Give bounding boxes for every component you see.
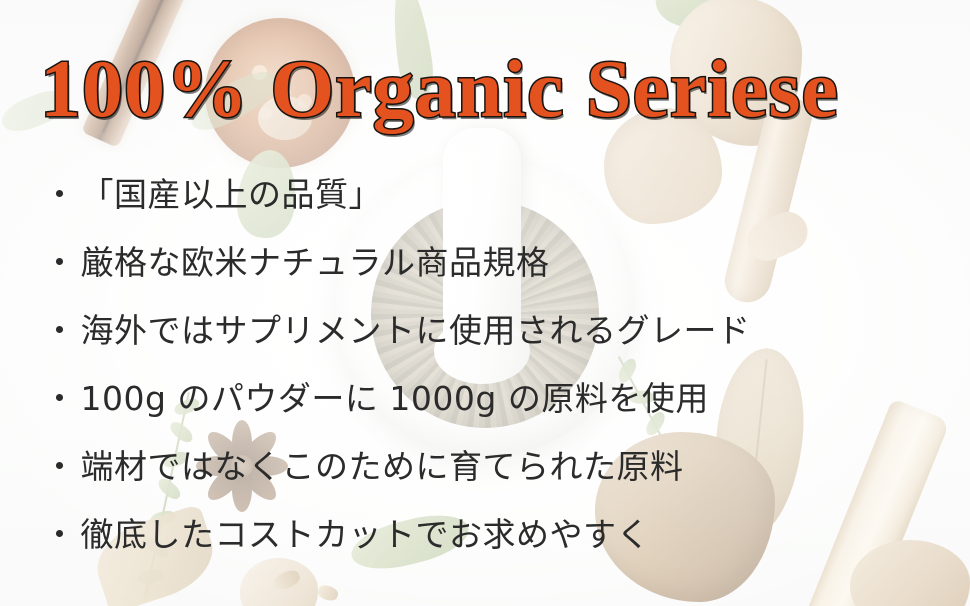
bullet-item-6: ・ 徹底したコストカットでお求めやすく xyxy=(43,508,943,576)
bullet-marker-icon: ・ xyxy=(43,382,77,415)
banner-headline: 100% Organic Seriese xyxy=(40,48,950,130)
bullet-marker-icon: ・ xyxy=(43,314,77,347)
bullet-marker-icon: ・ xyxy=(43,246,77,279)
bullet-text: 徹底したコストカットでお求めやすく xyxy=(81,508,651,556)
bullet-item-3: ・ 海外ではサプリメントに使用されるグレード xyxy=(43,304,943,372)
bullet-marker-icon: ・ xyxy=(43,518,77,551)
bullet-text: 「国産以上の品質」 xyxy=(81,168,383,216)
bullet-text: 100g のパウダーに 1000g の原料を使用 xyxy=(81,372,709,420)
bullet-item-5: ・ 端材ではなくこのために育てられた原料 xyxy=(43,440,943,508)
bullet-marker-icon: ・ xyxy=(43,178,77,211)
bullet-item-4: ・ 100g のパウダーに 1000g の原料を使用 xyxy=(43,372,943,440)
bullet-marker-icon: ・ xyxy=(43,450,77,483)
banner-content: 100% Organic Seriese ・ 「国産以上の品質」 ・ 厳格な欧米… xyxy=(0,0,970,606)
bullet-text: 厳格な欧米ナチュラル商品規格 xyxy=(81,236,550,284)
bullet-item-1: ・ 「国産以上の品質」 xyxy=(43,168,943,236)
feature-bullet-list: ・ 「国産以上の品質」 ・ 厳格な欧米ナチュラル商品規格 ・ 海外ではサプリメン… xyxy=(43,168,943,576)
promo-banner: 100% Organic Seriese ・ 「国産以上の品質」 ・ 厳格な欧米… xyxy=(0,0,970,606)
bullet-text: 海外ではサプリメントに使用されるグレード xyxy=(81,304,751,352)
bullet-text: 端材ではなくこのために育てられた原料 xyxy=(81,440,684,488)
bullet-item-2: ・ 厳格な欧米ナチュラル商品規格 xyxy=(43,236,943,304)
